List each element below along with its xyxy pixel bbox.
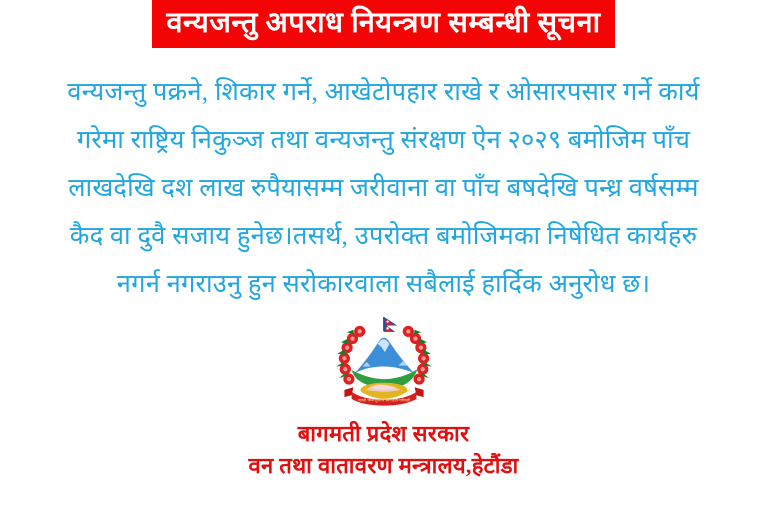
himalaya-mountain — [355, 338, 414, 373]
golden-land — [355, 383, 414, 399]
body-line: लाखदेखि दश लाख रुपैयासम्म जरीवाना वा पाँ… — [8, 164, 759, 212]
emblem-container: जननी जन्मभूमिश्च स्वर्गादपि गरीयसी — [0, 316, 767, 408]
notice-poster: वन्यजन्तु अपराध नियन्त्रण सम्बन्धी सूचना… — [0, 0, 767, 508]
notice-body: वन्यजन्तु पक्रने, शिकार गर्ने, आखेटोपहार… — [8, 68, 759, 308]
body-line: वन्यजन्तु पक्रने, शिकार गर्ने, आखेटोपहार… — [8, 68, 759, 116]
nepal-flag-icon — [383, 317, 396, 331]
footer-organization: बागमती प्रदेश सरकार — [0, 418, 767, 450]
body-line: नगर्न नगराउनु हुन सरोकारवाला सबैलाई हार्… — [8, 260, 759, 308]
nepal-government-emblem-icon: जननी जन्मभूमिश्च स्वर्गादपि गरीयसी — [330, 316, 438, 408]
body-line: कैद वा दुवै सजाय हुनेछ।तसर्थ, उपरोक्त बम… — [8, 212, 759, 260]
body-line: गरेमा राष्ट्रिय निकुञ्ज तथा वन्यजन्तु सं… — [8, 116, 759, 164]
title-banner-container: वन्यजन्तु अपराध नियन्त्रण सम्बन्धी सूचना — [0, 0, 767, 48]
footer-department: वन तथा वातावरण मन्त्रालय,हेटौंडा — [0, 450, 767, 482]
footer: बागमती प्रदेश सरकार वन तथा वातावरण मन्त्… — [0, 418, 767, 482]
page-title: वन्यजन्तु अपराध नियन्त्रण सम्बन्धी सूचना — [152, 0, 614, 48]
